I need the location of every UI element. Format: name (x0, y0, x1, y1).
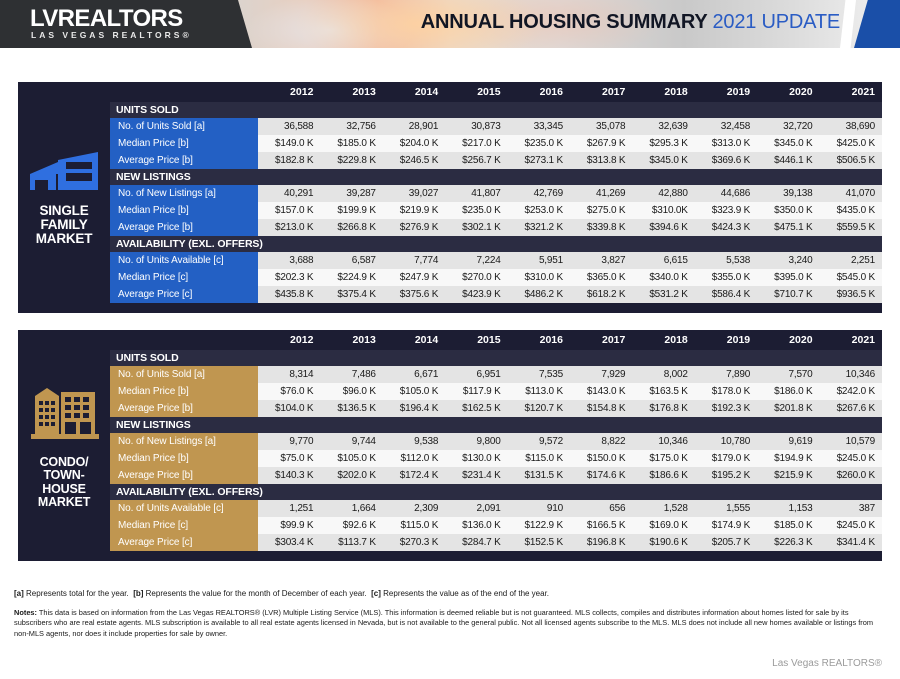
cell: $76.0 K (258, 383, 320, 400)
row-label: Average Price [b] (110, 152, 258, 169)
cell: 32,720 (757, 118, 819, 135)
cell: $506.5 K (820, 152, 882, 169)
cell: 6,671 (383, 366, 445, 383)
cell: $186.6 K (632, 467, 694, 484)
cell: $475.1 K (757, 219, 819, 236)
cell: $179.0 K (695, 450, 757, 467)
cell: $273.1 K (508, 152, 570, 169)
year-header-row: 2012 2013 2014 2015 2016 2017 2018 2019 … (110, 82, 882, 102)
cell: $253.0 K (508, 202, 570, 219)
year-header-2021: 2021 (820, 82, 882, 102)
section-header-availability-label: AVAILABILITY (EXL. OFFERS) (110, 484, 882, 500)
row-label: Median Price [b] (110, 450, 258, 467)
cell: $545.0 K (820, 269, 882, 286)
cell: $174.6 K (570, 467, 632, 484)
cell: 9,744 (320, 433, 382, 450)
table-row: Average Price [b] $213.0 K $266.8 K $276… (110, 219, 882, 236)
cell: $113.0 K (508, 383, 570, 400)
condo-sidebar: CONDO/ TOWN- HOUSE MARKET (18, 330, 110, 561)
year-header-2017: 2017 (570, 330, 632, 350)
cell: $313.8 K (570, 152, 632, 169)
cell: $435.0 K (820, 202, 882, 219)
cell: $185.0 K (320, 135, 382, 152)
single-family-table: 2012 2013 2014 2015 2016 2017 2018 2019 … (110, 82, 882, 303)
year-header-2018: 2018 (632, 330, 694, 350)
cell: $435.8 K (258, 286, 320, 303)
cell: $202.3 K (258, 269, 320, 286)
cell: $270.3 K (383, 534, 445, 551)
cell: $245.0 K (820, 517, 882, 534)
cell: $136.5 K (320, 400, 382, 417)
cell: $340.0 K (632, 269, 694, 286)
cell: 40,291 (258, 185, 320, 202)
cell: $235.0 K (508, 135, 570, 152)
cell: 10,346 (632, 433, 694, 450)
cell: 8,822 (570, 433, 632, 450)
cell: $395.0 K (757, 269, 819, 286)
cell: 5,951 (508, 252, 570, 269)
cell: 3,827 (570, 252, 632, 269)
cell: 38,690 (820, 118, 882, 135)
year-header-row: 2012 2013 2014 2015 2016 2017 2018 2019 … (110, 330, 882, 350)
table-row: Average Price [b] $104.0 K $136.5 K $196… (110, 400, 882, 417)
cell: $112.0 K (383, 450, 445, 467)
single-family-label-line-2: FAMILY (36, 218, 93, 232)
cell: $341.4 K (820, 534, 882, 551)
section-header-new-listings-label: NEW LISTINGS (110, 417, 882, 433)
cell: $369.6 K (695, 152, 757, 169)
cell: 6,615 (632, 252, 694, 269)
year-header-2013: 2013 (320, 82, 382, 102)
cell: $175.0 K (632, 450, 694, 467)
cell: $323.9 K (695, 202, 757, 219)
year-header-2014: 2014 (383, 82, 445, 102)
cell: $201.8 K (757, 400, 819, 417)
cell: 9,770 (258, 433, 320, 450)
year-header-spacer (110, 82, 258, 102)
condo-townhouse-market-block: CONDO/ TOWN- HOUSE MARKET 2012 2013 2014… (18, 330, 882, 561)
row-label: Average Price [c] (110, 286, 258, 303)
table-row: No. of New Listings [a] 9,770 9,744 9,53… (110, 433, 882, 450)
cell: 6,587 (320, 252, 382, 269)
cell: 32,639 (632, 118, 694, 135)
cell: $131.5 K (508, 467, 570, 484)
cell: 10,579 (820, 433, 882, 450)
cell: 39,027 (383, 185, 445, 202)
cell: $192.3 K (695, 400, 757, 417)
cell: 44,686 (695, 185, 757, 202)
page-title: ANNUAL HOUSING SUMMARY 2021 UPDATE (421, 11, 840, 34)
condo-label-line-4: MARKET (38, 496, 90, 510)
table-row: No. of New Listings [a] 40,291 39,287 39… (110, 185, 882, 202)
cell: $162.5 K (445, 400, 507, 417)
footnote-c-tag: [c] (371, 589, 381, 598)
logo-tagline: LAS VEGAS REALTORS® (31, 30, 192, 40)
logo-plate: LVREALTORS LAS VEGAS REALTORS® (0, 0, 238, 48)
condo-table: 2012 2013 2014 2015 2016 2017 2018 2019 … (110, 330, 882, 551)
cell: $215.9 K (757, 467, 819, 484)
cell: $276.9 K (383, 219, 445, 236)
cell: $256.7 K (445, 152, 507, 169)
footnote-a-tag: [a] (14, 589, 24, 598)
cell: $531.2 K (632, 286, 694, 303)
cell: $710.7 K (757, 286, 819, 303)
cell: $224.9 K (320, 269, 382, 286)
cell: 8,314 (258, 366, 320, 383)
cell: $140.3 K (258, 467, 320, 484)
cell: $176.8 K (632, 400, 694, 417)
single-family-sidebar: SINGLE FAMILY MARKET (18, 82, 110, 313)
cell: $213.0 K (258, 219, 320, 236)
cell: $310.0K (632, 202, 694, 219)
cell: $266.8 K (320, 219, 382, 236)
cell: $275.0 K (570, 202, 632, 219)
cell: $202.0 K (320, 467, 382, 484)
row-label: No. of Units Sold [a] (110, 366, 258, 383)
table-row: Average Price [b] $182.8 K $229.8 K $246… (110, 152, 882, 169)
cell: 42,769 (508, 185, 570, 202)
cell: $242.0 K (820, 383, 882, 400)
cell: $149.0 K (258, 135, 320, 152)
cell: $345.0 K (757, 135, 819, 152)
cell: 7,486 (320, 366, 382, 383)
cell: 1,555 (695, 500, 757, 517)
cell: 1,664 (320, 500, 382, 517)
footnote-b-tag: [b] (133, 589, 143, 598)
year-header-2016: 2016 (508, 330, 570, 350)
table-row: Median Price [b] $75.0 K $105.0 K $112.0… (110, 450, 882, 467)
cell: $302.1 K (445, 219, 507, 236)
cell: $117.9 K (445, 383, 507, 400)
condo-label-line-1: CONDO/ (38, 456, 90, 470)
cell: 33,345 (508, 118, 570, 135)
cell: $936.5 K (820, 286, 882, 303)
cell: $559.5 K (820, 219, 882, 236)
cell: 9,800 (445, 433, 507, 450)
cell: $136.0 K (445, 517, 507, 534)
table-row: Median Price [c] $99.9 K $92.6 K $115.0 … (110, 517, 882, 534)
row-label: No. of Units Available [c] (110, 500, 258, 517)
cell: $105.0 K (320, 450, 382, 467)
cell: 10,346 (820, 366, 882, 383)
year-header-2014: 2014 (383, 330, 445, 350)
cell: $260.0 K (820, 467, 882, 484)
table-row: No. of Units Sold [a] 8,314 7,486 6,671 … (110, 366, 882, 383)
table-row: Average Price [b] $140.3 K $202.0 K $172… (110, 467, 882, 484)
row-label: Median Price [b] (110, 383, 258, 400)
year-header-2016: 2016 (508, 82, 570, 102)
cell: 2,091 (445, 500, 507, 517)
cell: 9,572 (508, 433, 570, 450)
cell: $196.8 K (570, 534, 632, 551)
notes-paragraph: Notes: This data is based on information… (14, 608, 886, 639)
table-row: Median Price [c] $202.3 K $224.9 K $247.… (110, 269, 882, 286)
cell: 28,901 (383, 118, 445, 135)
cell: $196.4 K (383, 400, 445, 417)
cell: $229.8 K (320, 152, 382, 169)
cell: $152.5 K (508, 534, 570, 551)
cell: $130.0 K (445, 450, 507, 467)
cell: $205.7 K (695, 534, 757, 551)
notes-text: This data is based on information from t… (14, 608, 873, 638)
year-header-2015: 2015 (445, 330, 507, 350)
cell: 9,619 (757, 433, 819, 450)
year-header-2018: 2018 (632, 82, 694, 102)
table-row: Median Price [b] $149.0 K $185.0 K $204.… (110, 135, 882, 152)
cell: $231.4 K (445, 467, 507, 484)
cell: $284.7 K (445, 534, 507, 551)
cell: 39,287 (320, 185, 382, 202)
cell: 41,070 (820, 185, 882, 202)
cell: $267.9 K (570, 135, 632, 152)
row-label: No. of New Listings [a] (110, 433, 258, 450)
cell: $120.7 K (508, 400, 570, 417)
cell: $303.4 K (258, 534, 320, 551)
condo-label: CONDO/ TOWN- HOUSE MARKET (38, 456, 90, 510)
cell: $174.9 K (695, 517, 757, 534)
year-header-2012: 2012 (258, 330, 320, 350)
cell: 910 (508, 500, 570, 517)
cell: $423.9 K (445, 286, 507, 303)
cell: $157.0 K (258, 202, 320, 219)
cell: $104.0 K (258, 400, 320, 417)
cell: $113.7 K (320, 534, 382, 551)
cell: $122.9 K (508, 517, 570, 534)
cell: $217.0 K (445, 135, 507, 152)
page-title-accent: 2021 UPDATE (713, 11, 841, 33)
cell: 656 (570, 500, 632, 517)
cell: $375.6 K (383, 286, 445, 303)
single-family-table-wrap: 2012 2013 2014 2015 2016 2017 2018 2019 … (110, 82, 882, 313)
cell: $169.0 K (632, 517, 694, 534)
cell: $424.3 K (695, 219, 757, 236)
table-row: Average Price [c] $303.4 K $113.7 K $270… (110, 534, 882, 551)
year-header-2020: 2020 (757, 82, 819, 102)
cell: 1,153 (757, 500, 819, 517)
section-header-new-listings: NEW LISTINGS (110, 417, 882, 433)
cell: 32,756 (320, 118, 382, 135)
cell: $246.5 K (383, 152, 445, 169)
row-label: Median Price [b] (110, 135, 258, 152)
cell: $425.0 K (820, 135, 882, 152)
table-row: Average Price [c] $435.8 K $375.4 K $375… (110, 286, 882, 303)
table-row: Median Price [b] $76.0 K $96.0 K $105.0 … (110, 383, 882, 400)
cell: 8,002 (632, 366, 694, 383)
cell: $245.0 K (820, 450, 882, 467)
year-header-2019: 2019 (695, 330, 757, 350)
cell: $219.9 K (383, 202, 445, 219)
table-row: No. of Units Available [c] 1,251 1,664 2… (110, 500, 882, 517)
cell: $310.0 K (508, 269, 570, 286)
cell: 387 (820, 500, 882, 517)
section-header-units-sold-label: UNITS SOLD (110, 102, 882, 118)
cell: 41,269 (570, 185, 632, 202)
cell: $295.3 K (632, 135, 694, 152)
cell: 3,240 (757, 252, 819, 269)
cell: $486.2 K (508, 286, 570, 303)
cell: $345.0 K (632, 152, 694, 169)
section-header-new-listings-label: NEW LISTINGS (110, 169, 882, 185)
cell: $350.0 K (757, 202, 819, 219)
cell: $270.0 K (445, 269, 507, 286)
footnote-c-text: Represents the value as of the end of th… (383, 589, 549, 598)
condo-label-line-2: TOWN- (38, 469, 90, 483)
cell: $163.5 K (632, 383, 694, 400)
row-label: Median Price [c] (110, 517, 258, 534)
row-label: No. of New Listings [a] (110, 185, 258, 202)
year-header-2020: 2020 (757, 330, 819, 350)
buildings-icon (27, 382, 101, 449)
cell: $226.3 K (757, 534, 819, 551)
cell: 10,780 (695, 433, 757, 450)
cell: $204.0 K (383, 135, 445, 152)
section-header-units-sold: UNITS SOLD (110, 350, 882, 366)
footnote-a-text: Represents total for the year. (26, 589, 129, 598)
cell: 7,890 (695, 366, 757, 383)
cell: 7,570 (757, 366, 819, 383)
cell: 7,535 (508, 366, 570, 383)
cell: $446.1 K (757, 152, 819, 169)
row-label: Average Price [c] (110, 534, 258, 551)
row-label: No. of Units Sold [a] (110, 118, 258, 135)
cell: 36,588 (258, 118, 320, 135)
cell: $186.0 K (757, 383, 819, 400)
cell: $150.0 K (570, 450, 632, 467)
year-header-2019: 2019 (695, 82, 757, 102)
section-header-units-sold: UNITS SOLD (110, 102, 882, 118)
section-header-availability-label: AVAILABILITY (EXL. OFFERS) (110, 236, 882, 252)
cell: 1,528 (632, 500, 694, 517)
table-row: No. of Units Available [c] 3,688 6,587 7… (110, 252, 882, 269)
year-header-spacer (110, 330, 258, 350)
cell: 35,078 (570, 118, 632, 135)
row-label: Average Price [b] (110, 219, 258, 236)
cell: $172.4 K (383, 467, 445, 484)
cell: $182.8 K (258, 152, 320, 169)
cell: 1,251 (258, 500, 320, 517)
cell: $235.0 K (445, 202, 507, 219)
cell: 5,538 (695, 252, 757, 269)
single-family-label: SINGLE FAMILY MARKET (36, 204, 93, 246)
section-header-availability: AVAILABILITY (EXL. OFFERS) (110, 236, 882, 252)
cell: $99.9 K (258, 517, 320, 534)
house-icon (28, 150, 100, 197)
footnote-legend: [a] Represents total for the year. [b] R… (14, 588, 884, 599)
row-label: Median Price [b] (110, 202, 258, 219)
cell: $166.5 K (570, 517, 632, 534)
row-label: Average Price [b] (110, 400, 258, 417)
cell: $75.0 K (258, 450, 320, 467)
cell: 7,224 (445, 252, 507, 269)
cell: $339.8 K (570, 219, 632, 236)
row-label: Median Price [c] (110, 269, 258, 286)
section-header-new-listings: NEW LISTINGS (110, 169, 882, 185)
row-label: Average Price [b] (110, 467, 258, 484)
cell: $199.9 K (320, 202, 382, 219)
header-banner: LVREALTORS LAS VEGAS REALTORS® ANNUAL HO… (0, 0, 900, 48)
cell: $115.0 K (508, 450, 570, 467)
section-header-units-sold-label: UNITS SOLD (110, 350, 882, 366)
cell: 6,951 (445, 366, 507, 383)
cell: 7,929 (570, 366, 632, 383)
cell: 3,688 (258, 252, 320, 269)
cell: 39,138 (757, 185, 819, 202)
cell: $190.6 K (632, 534, 694, 551)
cell: $247.9 K (383, 269, 445, 286)
table-row: Median Price [b] $157.0 K $199.9 K $219.… (110, 202, 882, 219)
cell: $105.0 K (383, 383, 445, 400)
year-header-2021: 2021 (820, 330, 882, 350)
cell: $154.8 K (570, 400, 632, 417)
cell: $185.0 K (757, 517, 819, 534)
cell: 41,807 (445, 185, 507, 202)
cell: $618.2 K (570, 286, 632, 303)
cell: 9,538 (383, 433, 445, 450)
cell: $267.6 K (820, 400, 882, 417)
cell: $195.2 K (695, 467, 757, 484)
table-row: No. of Units Sold [a] 36,588 32,756 28,9… (110, 118, 882, 135)
cell: $355.0 K (695, 269, 757, 286)
cell: $375.4 K (320, 286, 382, 303)
cell: $313.0 K (695, 135, 757, 152)
cell: 30,873 (445, 118, 507, 135)
cell: $115.0 K (383, 517, 445, 534)
single-family-label-line-3: MARKET (36, 232, 93, 246)
cell: 32,458 (695, 118, 757, 135)
cell: 2,309 (383, 500, 445, 517)
single-family-label-line-1: SINGLE (36, 204, 93, 218)
single-family-market-block: SINGLE FAMILY MARKET 2012 2013 2014 2015… (18, 82, 882, 313)
cell: $365.0 K (570, 269, 632, 286)
cell: $586.4 K (695, 286, 757, 303)
section-header-availability: AVAILABILITY (EXL. OFFERS) (110, 484, 882, 500)
year-header-2015: 2015 (445, 82, 507, 102)
cell: $178.0 K (695, 383, 757, 400)
year-header-2013: 2013 (320, 330, 382, 350)
cell: $143.0 K (570, 383, 632, 400)
cell: $194.9 K (757, 450, 819, 467)
notes-label: Notes: (14, 608, 37, 617)
cell: $321.2 K (508, 219, 570, 236)
year-header-2017: 2017 (570, 82, 632, 102)
condo-label-line-3: HOUSE (38, 483, 90, 497)
year-header-2012: 2012 (258, 82, 320, 102)
cell: $394.6 K (632, 219, 694, 236)
cell: $92.6 K (320, 517, 382, 534)
condo-table-wrap: 2012 2013 2014 2015 2016 2017 2018 2019 … (110, 330, 882, 561)
footnote-b-text: Represents the value for the month of De… (146, 589, 367, 598)
cell: 42,880 (632, 185, 694, 202)
logo-wordmark: LVREALTORS (30, 5, 183, 33)
cell: 7,774 (383, 252, 445, 269)
cell: 2,251 (820, 252, 882, 269)
footer-brand: Las Vegas REALTORS® (772, 658, 882, 669)
page-title-main: ANNUAL HOUSING SUMMARY (421, 11, 707, 33)
row-label: No. of Units Available [c] (110, 252, 258, 269)
cell: $96.0 K (320, 383, 382, 400)
